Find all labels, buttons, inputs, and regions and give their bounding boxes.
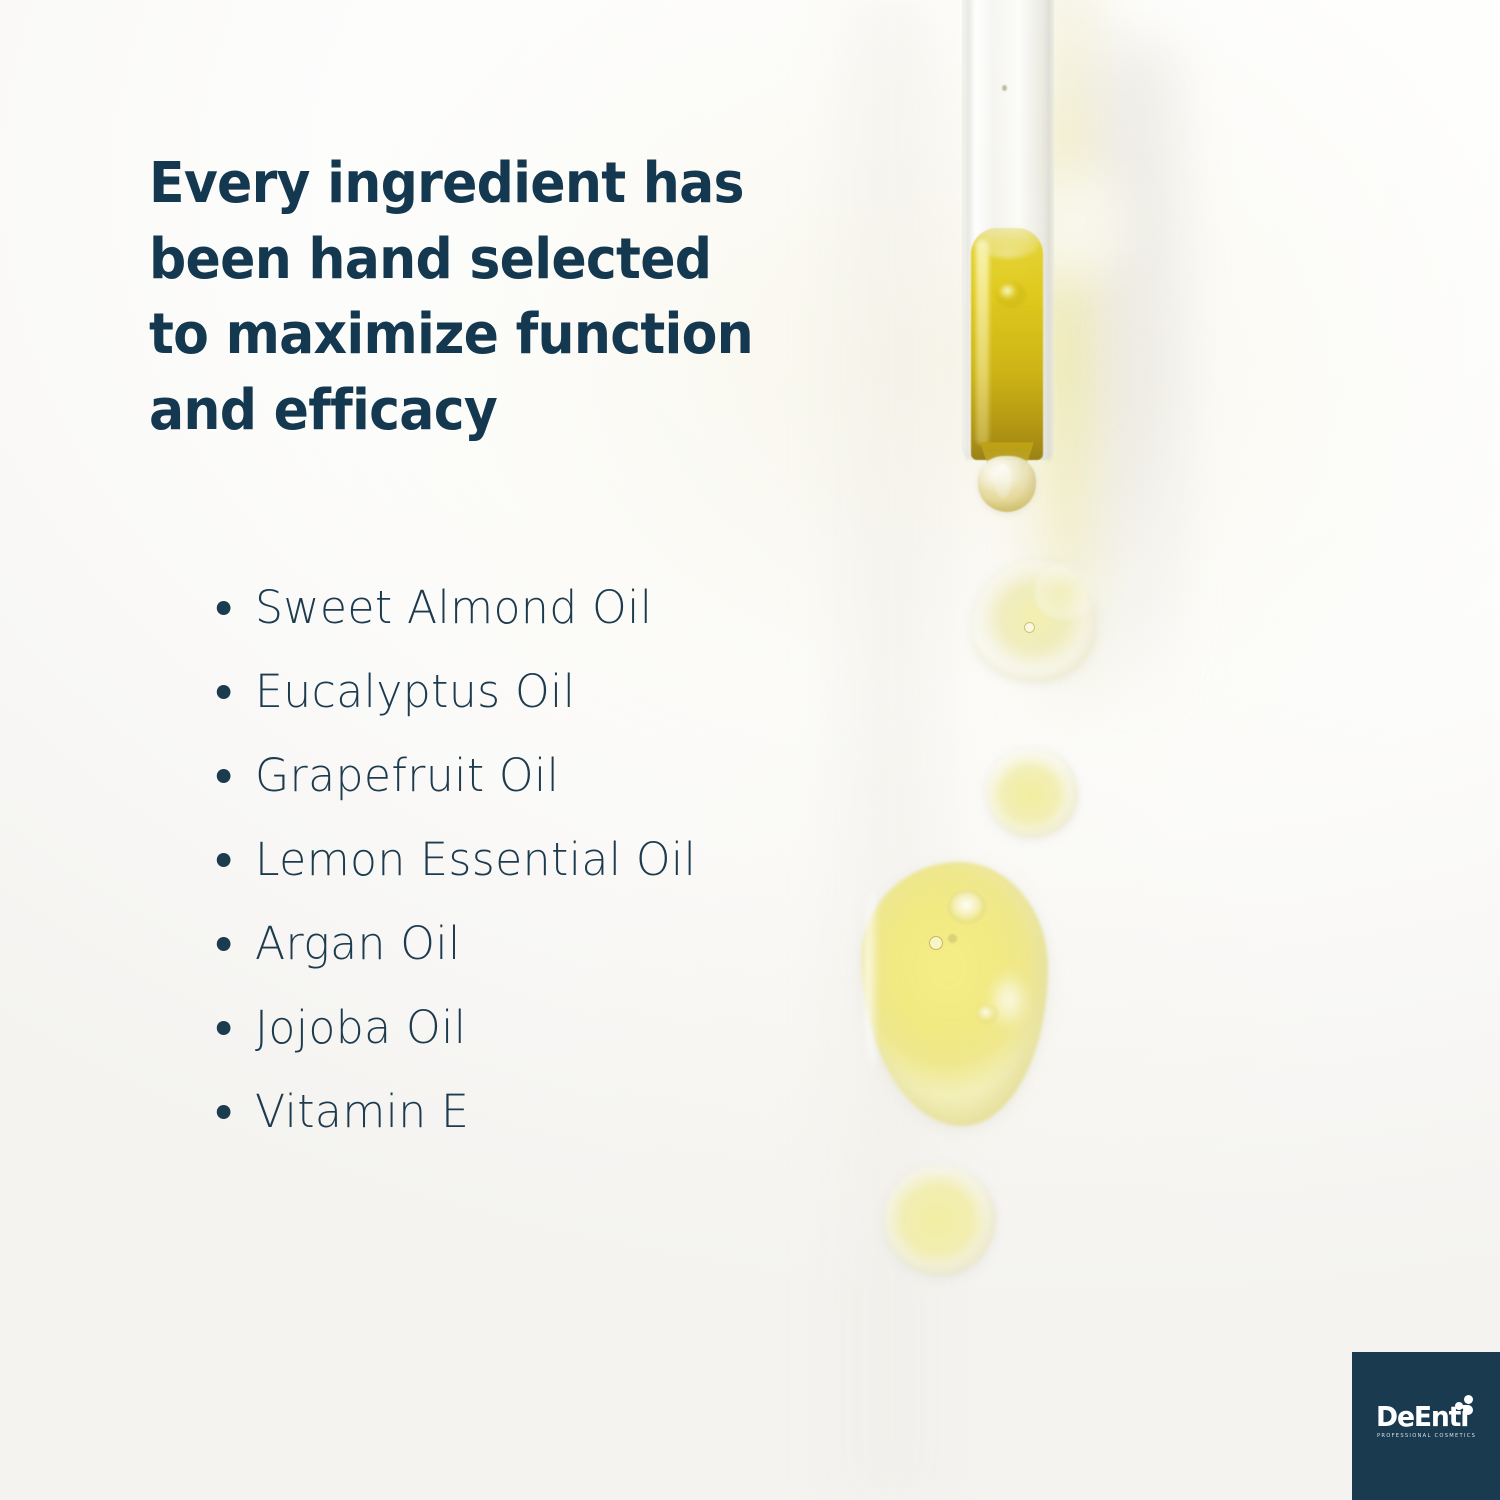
list-item-label: Jojoba Oil — [255, 1001, 466, 1054]
list-item: Sweet Almond Oil — [205, 566, 891, 650]
brand-dot-3 — [1463, 1405, 1473, 1415]
list-item: Grapefruit Oil — [205, 734, 891, 818]
oil-puddle-round-bottom — [884, 1164, 996, 1276]
bullet-icon — [217, 1105, 231, 1119]
bullet-icon — [217, 1021, 231, 1035]
list-item: Argan Oil — [205, 902, 891, 986]
list-item: Eucalyptus Oil — [205, 650, 891, 734]
puddle-bubble-ring — [929, 936, 943, 950]
dropper-pipette-image — [962, 0, 1054, 500]
puddle-lobe — [1034, 564, 1096, 620]
puddle-body — [884, 1164, 996, 1276]
list-item-label: Grapefruit Oil — [255, 749, 559, 802]
pipette-oil-meniscus — [973, 222, 1041, 258]
oil-puddle-irregular — [972, 560, 1096, 682]
brand-logo-lockup: DeEnti PROFESSIONAL COSMETICS — [1376, 1402, 1480, 1446]
page-title: Every ingredient has been hand selected … — [149, 146, 800, 448]
list-item-label: Sweet Almond Oil — [255, 581, 652, 634]
brand-dot-1 — [1464, 1395, 1473, 1404]
puddle-bubble — [1024, 622, 1035, 633]
brand-tagline: PROFESSIONAL COSMETICS — [1377, 1433, 1476, 1440]
oil-puddle-large-kidney — [862, 862, 1048, 1126]
list-item-label: Vitamin E — [255, 1085, 469, 1138]
list-item-label: Eucalyptus Oil — [255, 665, 575, 718]
bullet-icon — [217, 769, 231, 783]
list-item: Jojoba Oil — [205, 986, 891, 1070]
pipette-air-bubble — [996, 282, 1026, 308]
puddle-bubble-large — [948, 890, 986, 924]
bullet-icon — [217, 601, 231, 615]
brand-dots-icon — [1454, 1395, 1480, 1421]
puddle-edge-highlight — [864, 890, 884, 1068]
puddle-waist-notch — [990, 958, 1052, 1042]
bullet-icon — [217, 937, 231, 951]
list-item: Vitamin E — [205, 1070, 891, 1154]
brand-logo-badge: DeEnti PROFESSIONAL COSMETICS — [1352, 1352, 1500, 1500]
hanging-droplet-highlight — [995, 464, 1011, 498]
puddle-body — [986, 748, 1078, 838]
bullet-icon — [217, 685, 231, 699]
list-item-label: Argan Oil — [255, 917, 461, 970]
ingredient-list: Sweet Almond Oil Eucalyptus Oil Grapefru… — [205, 566, 905, 1154]
pipette-speck — [1002, 85, 1007, 91]
puddle-bubble-lower — [976, 1004, 998, 1024]
background-blurred-gray-column — [1092, 40, 1178, 730]
list-item-label: Lemon Essential Oil — [255, 833, 696, 886]
list-item: Lemon Essential Oil — [205, 818, 891, 902]
pipette-oil-highlight — [976, 240, 989, 445]
brand-dot-2 — [1455, 1402, 1463, 1410]
oil-puddle-round-small — [986, 748, 1078, 838]
promo-graphic: Every ingredient has been hand selected … — [0, 0, 1500, 1500]
puddle-bubble-small — [948, 934, 957, 943]
bullet-icon — [217, 853, 231, 867]
